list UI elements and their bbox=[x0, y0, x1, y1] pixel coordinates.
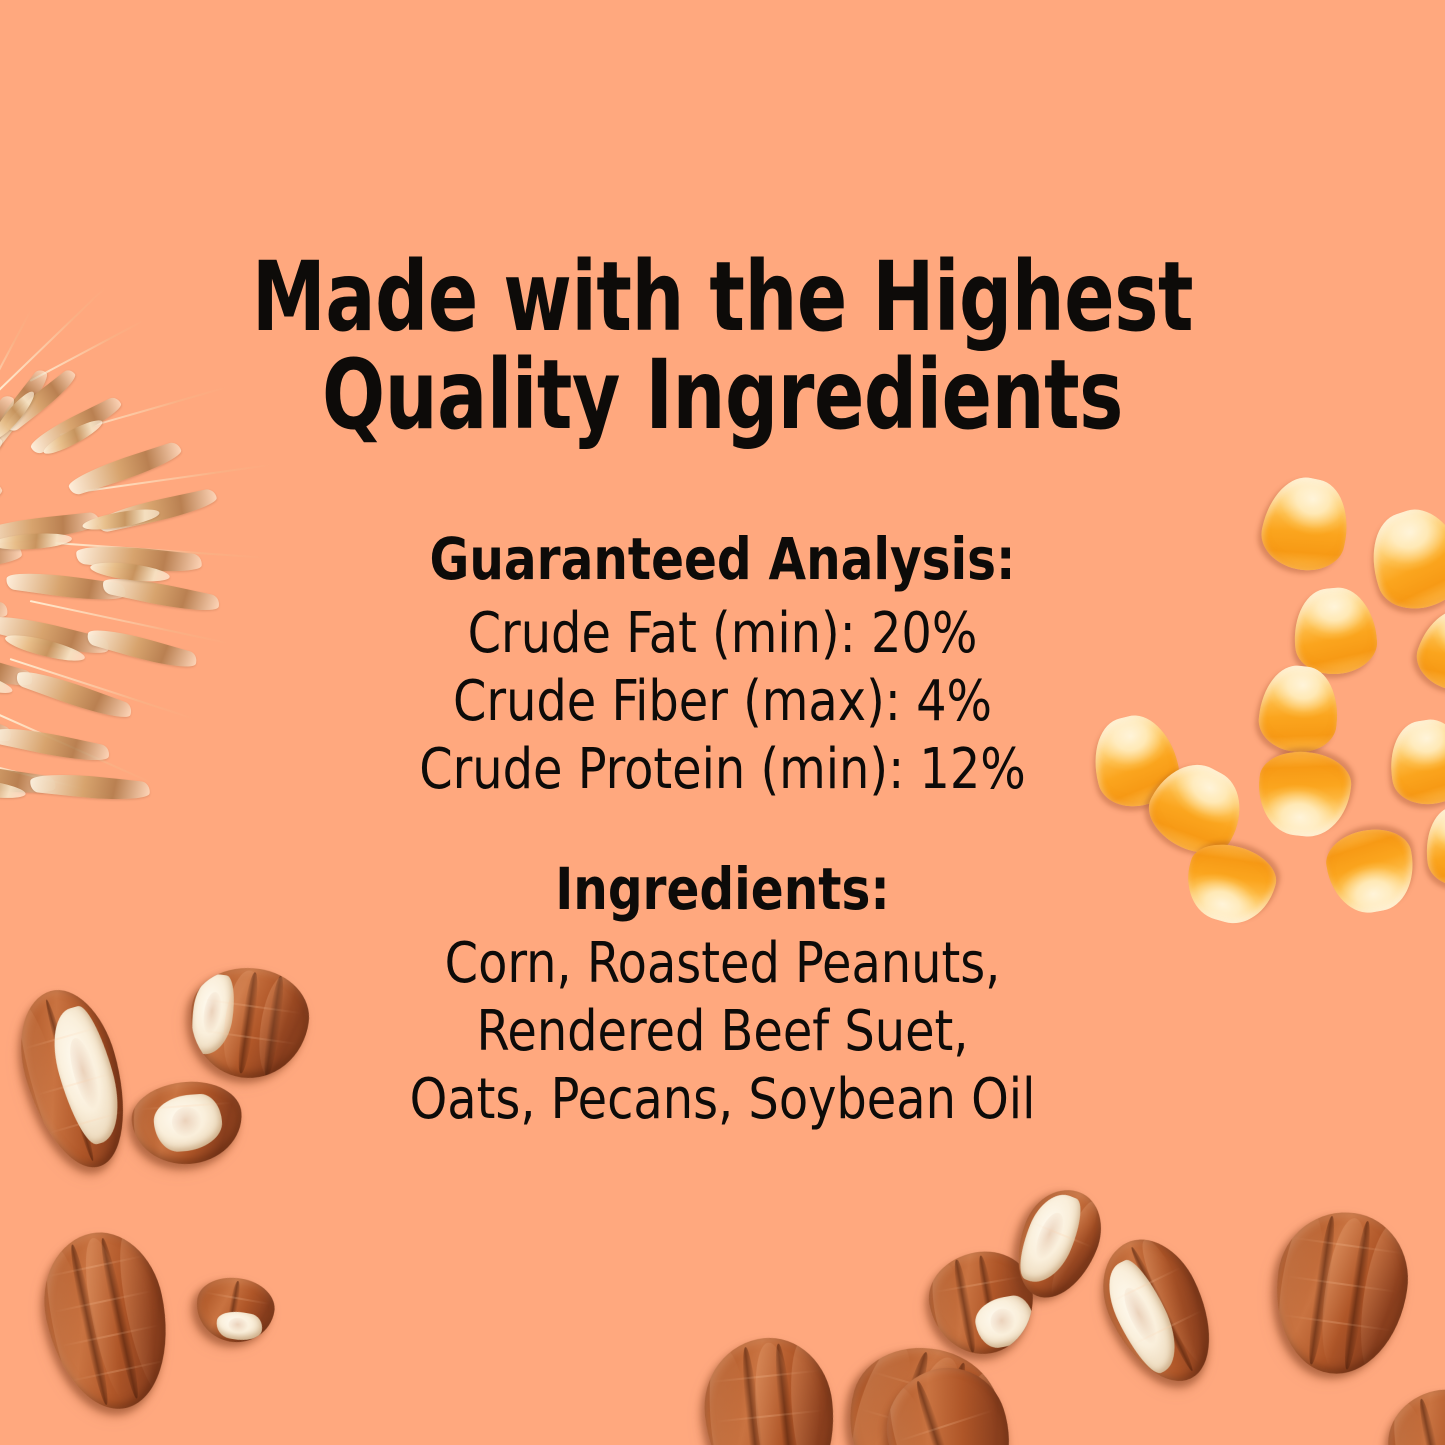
pecan-whole bbox=[1379, 1380, 1445, 1445]
pecan-half bbox=[1084, 1223, 1232, 1398]
guaranteed-analysis-heading: Guaranteed Analysis: bbox=[51, 528, 1395, 590]
product-info-panel: Made with the Highest Quality Ingredient… bbox=[0, 0, 1445, 1445]
guaranteed-analysis-row: Crude Fiber (max): 4% bbox=[36, 668, 1409, 736]
guaranteed-analysis-row: Crude Protein (min): 12% bbox=[36, 736, 1409, 804]
ingredients-line: Oats, Pecans, Soybean Oil bbox=[36, 1066, 1409, 1134]
pecan-whole bbox=[1265, 1204, 1416, 1383]
guaranteed-analysis-row: Crude Fat (min): 20% bbox=[36, 600, 1409, 668]
page-title: Made with the Highest Quality Ingredient… bbox=[101, 248, 1344, 444]
ingredients-heading: Ingredients: bbox=[51, 858, 1395, 920]
ingredients-line: Corn, Roasted Peanuts, bbox=[36, 930, 1409, 998]
ingredients-section: Ingredients: Corn, Roasted Peanuts, Rend… bbox=[0, 858, 1445, 1134]
ingredients-line: Rendered Beef Suet, bbox=[36, 998, 1409, 1066]
pecan-piece bbox=[191, 1272, 279, 1349]
pecan-whole bbox=[698, 1332, 843, 1445]
page-title-line-2: Quality Ingredients bbox=[101, 346, 1344, 444]
guaranteed-analysis-section: Guaranteed Analysis: Crude Fat (min): 20… bbox=[0, 528, 1445, 804]
pecan-whole bbox=[31, 1222, 183, 1421]
page-title-line-1: Made with the Highest bbox=[101, 248, 1344, 346]
